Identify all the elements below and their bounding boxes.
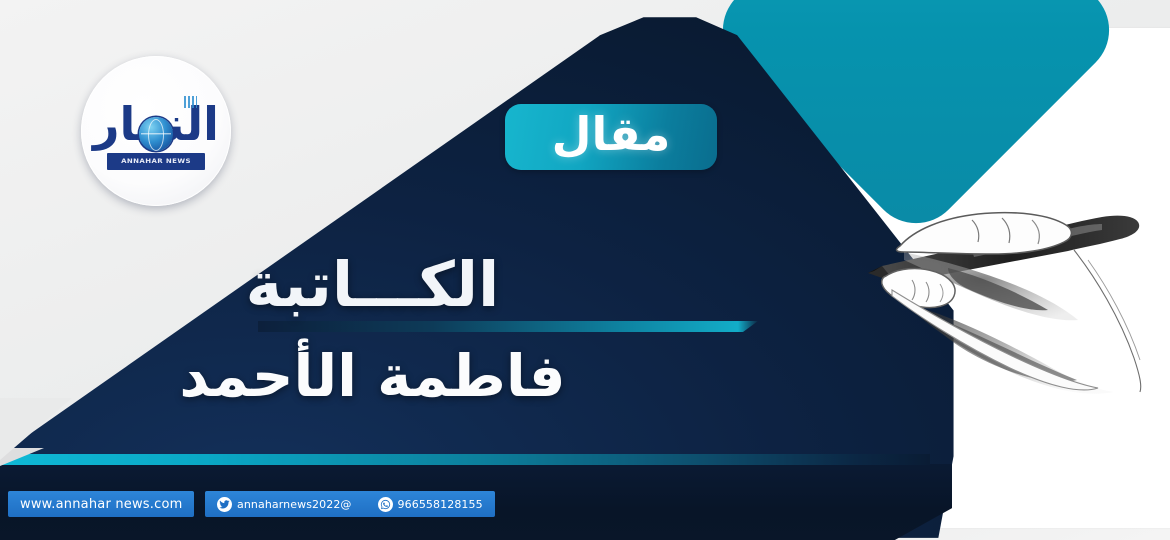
logo-tick-mark-icon [184, 96, 197, 108]
globe-icon [139, 117, 173, 151]
hand-holding-pen-illustration [852, 172, 1170, 410]
website-url-badge[interactable]: www.annahar news.com [8, 491, 194, 517]
article-author-banner: النهار ANNAHAR NEWS مقال الكـــاتبة فاطم… [0, 0, 1170, 540]
teal-accent-underline [258, 321, 758, 332]
annahar-logo[interactable]: النهار ANNAHAR NEWS [81, 56, 231, 206]
author-role-label: الكـــاتبة [0, 248, 745, 321]
author-name: فاطمة الأحمد [0, 342, 745, 410]
whatsapp-number: 966558128155 [398, 498, 483, 511]
twitter-handle: annaharnews2022@ [237, 498, 352, 511]
content-type-badge: مقال [505, 104, 717, 170]
logo-tagline: ANNAHAR NEWS [121, 157, 191, 164]
logo-tagline-bar: ANNAHAR NEWS [107, 153, 205, 170]
social-handles-badge[interactable]: annaharnews2022@ 966558128155 [205, 491, 495, 517]
social-item-whatsapp[interactable]: 966558128155 [378, 497, 483, 512]
whatsapp-icon [378, 497, 393, 512]
teal-divider-rule [0, 454, 930, 465]
website-url-text: www.annahar news.com [20, 497, 182, 512]
content-type-label: مقال [552, 111, 671, 163]
social-item-twitter[interactable]: annaharnews2022@ [217, 497, 352, 512]
twitter-icon [217, 497, 232, 512]
